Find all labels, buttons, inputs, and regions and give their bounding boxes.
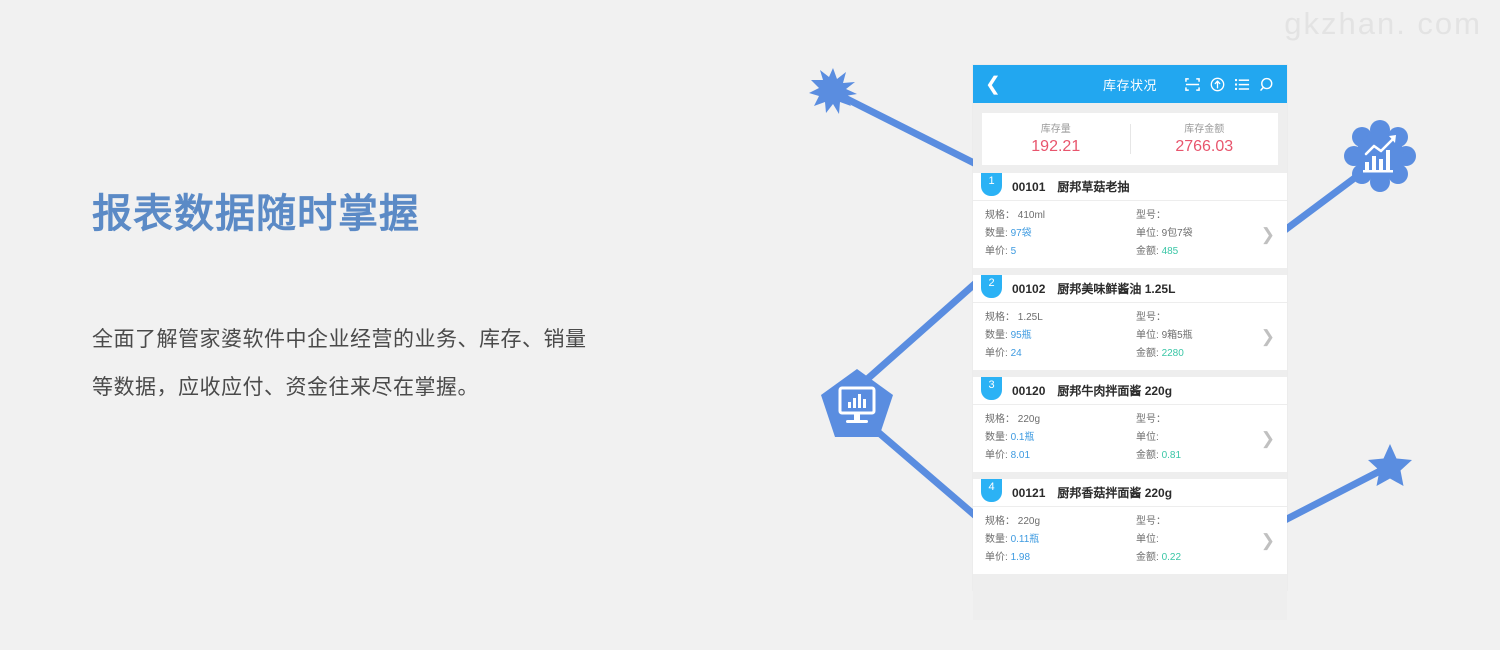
field-model: 型号： <box>1136 309 1287 327</box>
table-row[interactable]: 200102厨邦美味鲜酱油 1.25L规格： 1.25L数量: 95瓶单价: 2… <box>973 268 1287 370</box>
field-spec: 规格： 220g <box>985 513 1130 531</box>
product-name: 厨邦牛肉拌面酱 220g <box>1057 382 1172 399</box>
description-text: 全面了解管家婆软件中企业经营的业务、库存、销量等数据，应收应付、资金往来尽在掌握… <box>92 316 592 412</box>
product-code: 00102 <box>1012 282 1045 296</box>
row-details: 规格： 410ml数量: 97袋单价: 5型号： 单位: 9包7袋金额: 485… <box>973 201 1287 268</box>
row-details: 规格： 220g数量: 0.1瓶单价: 8.01型号： 单位: 金额: 0.81… <box>973 405 1287 472</box>
product-name: 厨邦香菇拌面酱 220g <box>1057 484 1172 501</box>
scallop-badge <box>1344 120 1416 192</box>
row-left-column: 规格： 410ml数量: 97袋单价: 5 <box>973 207 1130 261</box>
product-code: 00121 <box>1012 486 1045 500</box>
promo-banner: gkzhan. com 报表数据随时掌握 全面了解管家婆软件中企业经营的业务、库… <box>0 0 1500 650</box>
summary-card: 库存量 192.21 库存金额 2766.03 <box>982 113 1278 165</box>
field-spec: 规格： 1.25L <box>985 309 1130 327</box>
search-icon[interactable] <box>1260 77 1275 92</box>
stat-value: 192.21 <box>982 137 1130 157</box>
bar-chart-trend-icon <box>1344 120 1416 192</box>
row-header: 400121厨邦香菇拌面酱 220g <box>973 479 1287 507</box>
field-qty: 数量: 0.11瓶 <box>985 531 1130 549</box>
product-code: 00101 <box>1012 180 1045 194</box>
app-topbar: ❮ 库存状况 <box>973 65 1287 103</box>
field-model: 型号： <box>1136 411 1287 429</box>
row-chevron-icon[interactable]: ❯ <box>1261 531 1275 551</box>
star-badge <box>1368 443 1412 487</box>
row-left-column: 规格： 220g数量: 0.11瓶单价: 1.98 <box>973 513 1130 567</box>
field-amount: 金额: 0.22 <box>1136 549 1287 567</box>
row-left-column: 规格： 220g数量: 0.1瓶单价: 8.01 <box>973 411 1130 465</box>
row-details: 规格： 220g数量: 0.11瓶单价: 1.98型号： 单位: 金额: 0.2… <box>973 507 1287 574</box>
topbar-actions <box>1185 77 1275 92</box>
row-index-badge: 4 <box>981 479 1002 502</box>
field-amount: 金额: 485 <box>1136 243 1287 261</box>
row-chevron-icon[interactable]: ❯ <box>1261 429 1275 449</box>
table-row[interactable]: 100101厨邦草菇老抽规格： 410ml数量: 97袋单价: 5型号： 单位:… <box>973 173 1287 268</box>
back-button[interactable]: ❮ <box>985 75 1001 94</box>
field-price: 单价: 24 <box>985 345 1130 363</box>
row-chevron-icon[interactable]: ❯ <box>1261 225 1275 245</box>
field-qty: 数量: 0.1瓶 <box>985 429 1130 447</box>
field-amount: 金额: 2280 <box>1136 345 1287 363</box>
field-qty: 数量: 95瓶 <box>985 327 1130 345</box>
row-index-badge: 2 <box>981 275 1002 298</box>
table-row[interactable]: 300120厨邦牛肉拌面酱 220g规格： 220g数量: 0.1瓶单价: 8.… <box>973 370 1287 472</box>
stat-inventory-qty: 库存量 192.21 <box>982 122 1130 157</box>
star-icon <box>1368 443 1412 487</box>
scan-icon[interactable] <box>1185 77 1200 92</box>
field-model: 型号： <box>1136 207 1287 225</box>
stat-label: 库存金额 <box>1131 122 1279 137</box>
field-model: 型号： <box>1136 513 1287 531</box>
starburst-badge <box>808 66 858 116</box>
row-header: 100101厨邦草菇老抽 <box>973 173 1287 201</box>
stat-label: 库存量 <box>982 122 1130 137</box>
stat-value: 2766.03 <box>1131 137 1279 157</box>
field-price: 单价: 1.98 <box>985 549 1130 567</box>
page-title: 报表数据随时掌握 <box>92 190 652 238</box>
stat-inventory-amount: 库存金额 2766.03 <box>1131 122 1279 157</box>
field-amount: 金额: 0.81 <box>1136 447 1287 465</box>
row-index-badge: 3 <box>981 377 1002 400</box>
monitor-chart-icon <box>820 368 894 438</box>
product-name: 厨邦草菇老抽 <box>1057 178 1129 195</box>
list-icon[interactable] <box>1235 77 1250 92</box>
app-panel: ❮ 库存状况 <box>973 65 1287 590</box>
row-header: 300120厨邦牛肉拌面酱 220g <box>973 377 1287 405</box>
product-code: 00120 <box>1012 384 1045 398</box>
field-price: 单价: 5 <box>985 243 1130 261</box>
product-list: 100101厨邦草菇老抽规格： 410ml数量: 97袋单价: 5型号： 单位:… <box>973 173 1287 574</box>
watermark-text: gkzhan. com <box>1284 6 1482 42</box>
sparkle-icon <box>808 66 858 116</box>
product-name: 厨邦美味鲜酱油 1.25L <box>1057 280 1175 297</box>
field-spec: 规格： 220g <box>985 411 1130 429</box>
row-chevron-icon[interactable]: ❯ <box>1261 327 1275 347</box>
arrow-up-circle-icon[interactable] <box>1210 77 1225 92</box>
row-index-badge: 1 <box>981 173 1002 196</box>
list-bottom-space <box>973 574 1287 620</box>
field-qty: 数量: 97袋 <box>985 225 1130 243</box>
row-header: 200102厨邦美味鲜酱油 1.25L <box>973 275 1287 303</box>
field-price: 单价: 8.01 <box>985 447 1130 465</box>
field-spec: 规格： 410ml <box>985 207 1130 225</box>
row-details: 规格： 1.25L数量: 95瓶单价: 24型号： 单位: 9箱5瓶金额: 22… <box>973 303 1287 370</box>
row-left-column: 规格： 1.25L数量: 95瓶单价: 24 <box>973 309 1130 363</box>
connector-line-mid-upper <box>864 281 978 382</box>
marketing-copy: 报表数据随时掌握 全面了解管家婆软件中企业经营的业务、库存、销量等数据，应收应付… <box>92 190 652 412</box>
pentagon-badge <box>820 368 894 438</box>
table-row[interactable]: 400121厨邦香菇拌面酱 220g规格： 220g数量: 0.11瓶单价: 1… <box>973 472 1287 574</box>
